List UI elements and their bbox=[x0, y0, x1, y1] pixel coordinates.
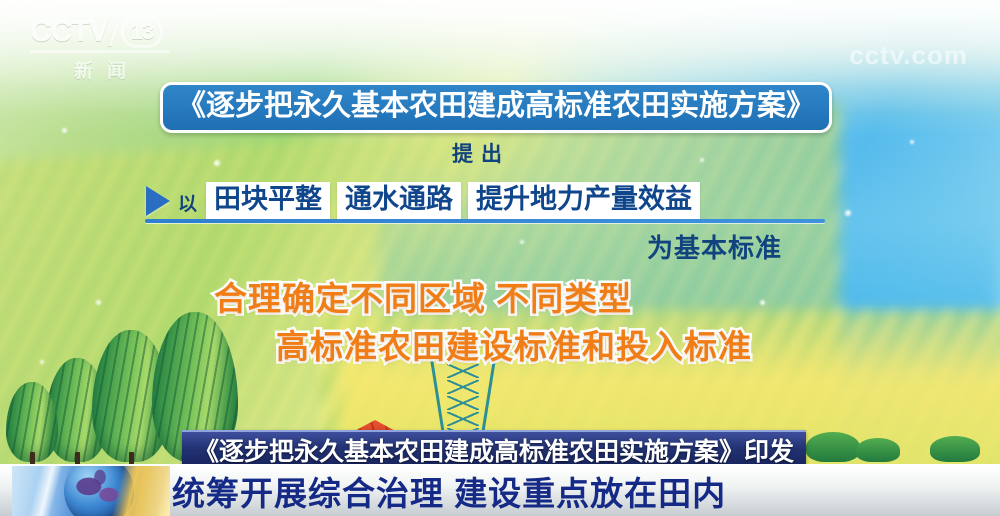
channel-logo-row: CCTV 13 bbox=[30, 16, 170, 48]
channel-number: 13 bbox=[121, 16, 163, 48]
headline-banner-text: 统筹开展综合治理 建设重点放在田内 bbox=[172, 467, 726, 515]
criteria-suffix: 为基本标准 bbox=[647, 228, 782, 265]
document-title-pill: 《逐步把永久基本农田建成高标准农田实施方案》 bbox=[160, 82, 832, 133]
emphasis-line-2: 高标准农田建设标准和投入标准 bbox=[276, 320, 752, 368]
criteria-underline bbox=[145, 219, 825, 223]
headline-verb: 提出 bbox=[452, 138, 510, 168]
criteria-chip: 通水通路 bbox=[337, 182, 461, 220]
broadcast-frame: CCTV 13 新闻 cctv.com 《逐步把永久基本农田建成高标准农田实施方… bbox=[0, 0, 1000, 516]
emphasis-line-1: 合理确定不同区域 不同类型 bbox=[214, 272, 632, 320]
criteria-chip: 田块平整 bbox=[206, 182, 330, 220]
channel-sub-label: 新闻 bbox=[30, 56, 170, 83]
document-title-text: 《逐步把永久基本农田建成高标准农田实施方案》 bbox=[177, 90, 815, 122]
tree-icon bbox=[6, 382, 58, 462]
headline-banner: 统筹开展综合治理 建设重点放在田内 bbox=[0, 464, 1000, 516]
topic-banner-text: 《逐步把永久基本农田建成高标准农田实施方案》印发 bbox=[194, 432, 794, 468]
site-watermark: cctv.com bbox=[849, 40, 968, 71]
logo-underline bbox=[30, 50, 170, 53]
play-triangle-icon bbox=[146, 186, 170, 216]
cctv-wordmark: CCTV bbox=[30, 17, 108, 47]
criteria-chip: 提升地力产量效益 bbox=[468, 182, 700, 220]
logo-slash-icon bbox=[108, 18, 120, 46]
bush-icon bbox=[930, 436, 980, 462]
criteria-prefix: 以 bbox=[178, 189, 197, 216]
bush-icon bbox=[856, 438, 900, 462]
channel-logo: CCTV 13 新闻 bbox=[30, 16, 170, 78]
bush-icon bbox=[806, 432, 860, 462]
criteria-row: 以 田块平整 通水通路 提升地力产量效益 bbox=[146, 182, 700, 220]
globe-icon bbox=[12, 466, 170, 516]
